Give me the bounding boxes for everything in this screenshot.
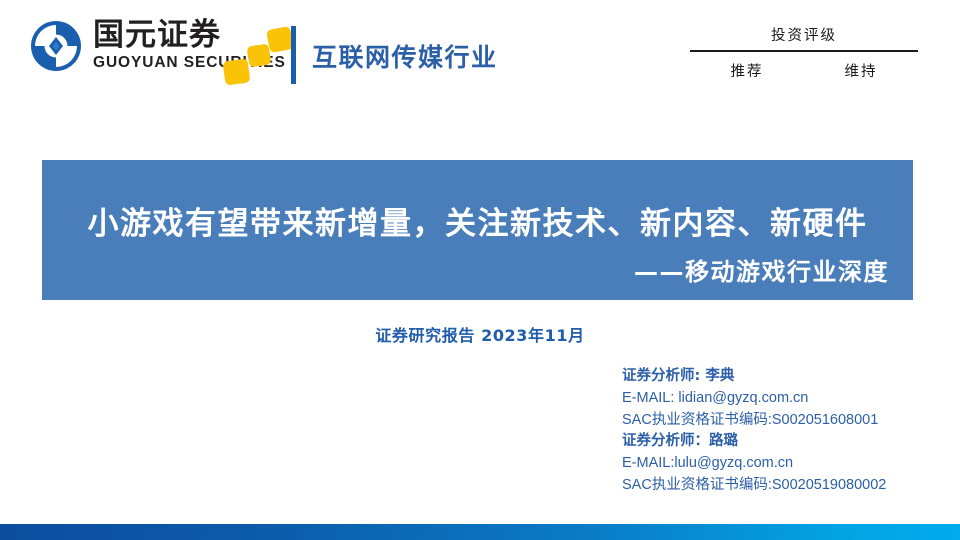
analyst-2-sac: SAC执业资格证书编码:S0020519080002 bbox=[622, 474, 942, 496]
header-vertical-divider bbox=[291, 26, 296, 84]
report-main-title: 小游戏有望带来新增量，关注新技术、新内容、新硬件 bbox=[42, 198, 913, 243]
analyst-contact-block: 证券分析师: 李典 E-MAIL: lidian@gyzq.com.cn SAC… bbox=[622, 366, 942, 496]
logo-sparkle-diamonds-icon bbox=[222, 28, 292, 90]
industry-label: 互联网传媒行业 bbox=[312, 38, 498, 74]
sparkle-diamond-1 bbox=[266, 26, 294, 53]
report-title-banner: 小游戏有望带来新增量，关注新技术、新内容、新硬件 ——移动游戏行业深度 bbox=[42, 160, 913, 300]
page-header: 国元证券 GUOYUAN SECURITIES 互联网传媒行业 投资评级 推荐 … bbox=[0, 0, 960, 118]
rating-value-maintain: 维持 bbox=[845, 60, 878, 81]
investment-rating-title: 投资评级 bbox=[690, 24, 918, 50]
sparkle-diamond-3 bbox=[222, 58, 250, 85]
investment-rating-box: 投资评级 推荐 维持 bbox=[690, 24, 918, 81]
report-date-line: 证券研究报告 2023年11月 bbox=[0, 322, 960, 346]
report-subtitle: ——移动游戏行业深度 bbox=[634, 252, 889, 287]
sparkle-diamond-2 bbox=[246, 43, 271, 67]
guoyuan-circular-logo-icon bbox=[28, 18, 84, 74]
analyst-1-sac: SAC执业资格证书编码:S002051608001 bbox=[622, 409, 942, 431]
analyst-2-email: E-MAIL:lulu@gyzq.com.cn bbox=[622, 452, 942, 474]
analyst-1-email: E-MAIL: lidian@gyzq.com.cn bbox=[622, 387, 942, 409]
analyst-2-name: 证券分析师：路璐 bbox=[622, 431, 942, 452]
investment-rating-values: 推荐 维持 bbox=[690, 52, 918, 81]
rating-value-recommend: 推荐 bbox=[731, 60, 764, 81]
analyst-1-name: 证券分析师: 李典 bbox=[622, 366, 942, 387]
footer-gradient-bar bbox=[0, 524, 960, 540]
